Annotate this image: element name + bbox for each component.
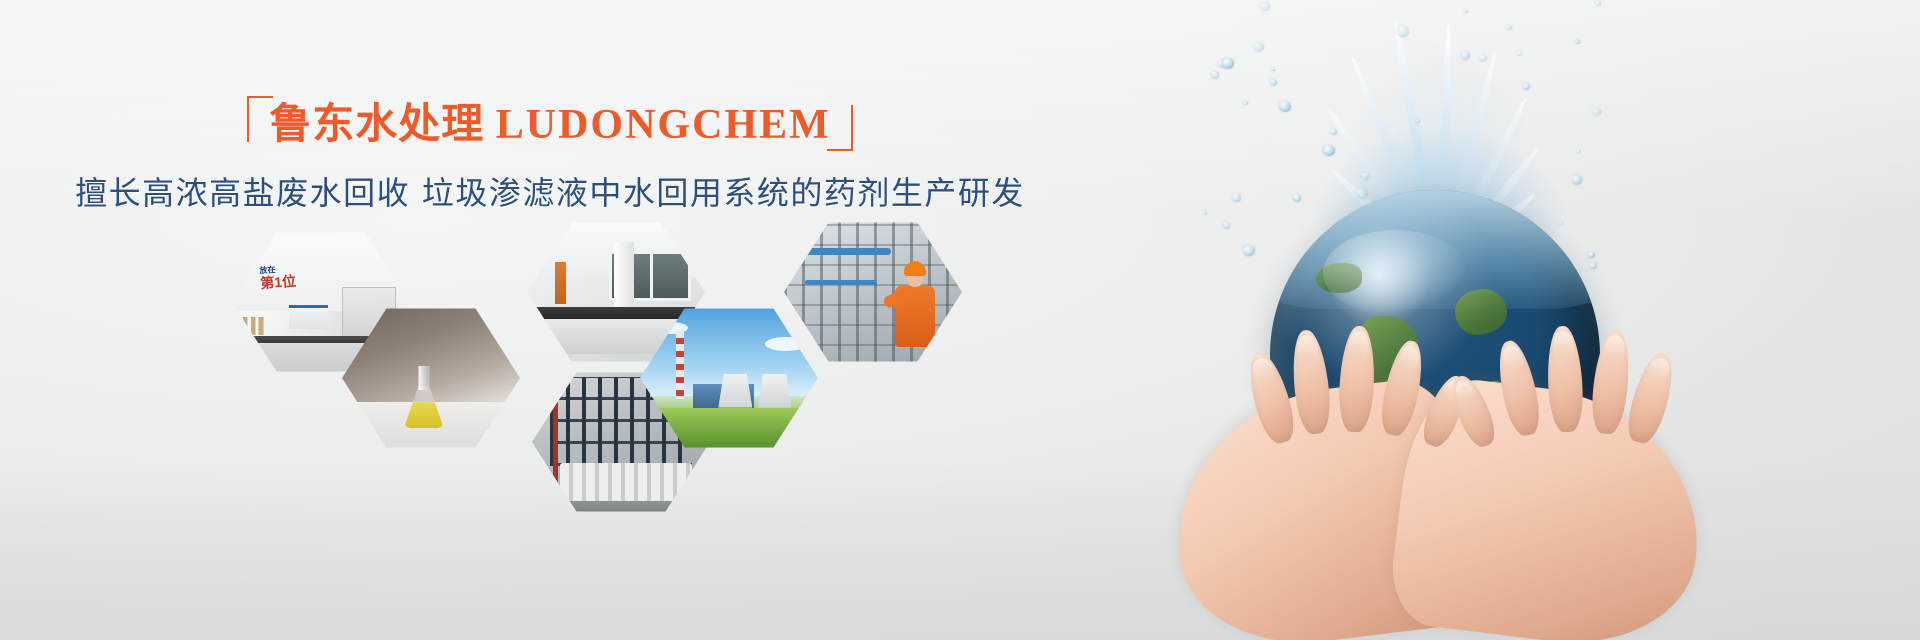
- fingernail: [1397, 344, 1421, 372]
- hex-image-worker: [784, 218, 962, 366]
- fingernail: [1603, 334, 1625, 363]
- water-droplet: [1330, 129, 1337, 135]
- wall-slogan-bottom: 第1位: [260, 273, 297, 291]
- hexagon-gallery: 放在 第1位: [232, 218, 962, 518]
- fingernail: [1553, 331, 1574, 360]
- water-droplet: [1232, 194, 1241, 202]
- cooling-tower: [718, 374, 752, 408]
- water-droplet: [1272, 68, 1276, 71]
- fingernail: [1453, 378, 1476, 402]
- water-droplet: [1253, 42, 1264, 52]
- water-droplet: [1270, 79, 1277, 85]
- skid-red-pipe: [553, 389, 558, 490]
- water-droplet: [1222, 58, 1234, 69]
- worker-blue-pipe: [798, 248, 891, 255]
- hero-banner: 鲁东水处理 LUDONGCHEM 擅长高浓高盐废水回收 垃圾渗滤液中水回用系统的…: [0, 0, 1920, 640]
- brand-title-frame: 鲁东水处理 LUDONGCHEM: [247, 96, 853, 151]
- wall-slogan: 放在 第1位: [260, 265, 297, 292]
- fingernail: [1500, 344, 1524, 372]
- erlenmeyer-flask-icon: [404, 366, 444, 428]
- water-droplet: [1211, 71, 1220, 79]
- skid-base: [532, 501, 710, 516]
- water-droplet: [1243, 101, 1248, 106]
- banner-subtitle: 擅长高浓高盐废水回收 垃圾渗滤液中水回用系统的药剂生产研发: [0, 168, 1100, 214]
- water-droplet: [1397, 26, 1408, 36]
- water-droplet: [1223, 222, 1230, 228]
- cooling-tower: [757, 374, 791, 408]
- plant-cloud: [765, 337, 807, 351]
- equipment-rack: [555, 262, 566, 303]
- flask-neck: [418, 366, 429, 390]
- water-droplet: [1517, 51, 1522, 56]
- lab-machine: [289, 305, 328, 329]
- hex-tile-worker[interactable]: [784, 218, 962, 366]
- water-droplet: [1279, 101, 1291, 112]
- fingernail: [1348, 331, 1369, 360]
- water-droplet: [1506, 25, 1511, 30]
- water-droplet: [1461, 51, 1471, 60]
- water-droplet: [1595, 1, 1601, 6]
- water-droplet: [1523, 83, 1531, 90]
- lab-bottles: [243, 317, 282, 335]
- worker-blue-pipe: [805, 280, 876, 285]
- water-droplet: [1479, 54, 1487, 62]
- brand-title-cn: 鲁东水处理: [269, 102, 484, 148]
- flask-body: [404, 386, 444, 428]
- brand-title-en: LUDONGCHEM: [496, 102, 831, 148]
- water-droplet: [1323, 145, 1335, 156]
- water-droplet: [1575, 40, 1580, 45]
- fingernail: [1296, 334, 1318, 363]
- headline-block: 鲁东水处理 LUDONGCHEM 擅长高浓高盐废水回收 垃圾渗滤液中水回用系统的…: [0, 96, 1100, 214]
- skid-membrane-vessels: [560, 463, 692, 501]
- water-droplet: [1592, 108, 1601, 116]
- equipment-bench: [531, 307, 702, 319]
- water-droplet: [1260, 2, 1270, 11]
- brand-title: 鲁东水处理 LUDONGCHEM: [269, 102, 831, 149]
- water-droplet: [1243, 245, 1255, 256]
- safety-helmet-icon: [904, 261, 926, 276]
- cupped-hands: [1158, 300, 1728, 640]
- water-globe-artwork: [1100, 0, 1920, 640]
- plant-chimney: [676, 331, 684, 399]
- fingernail: [1646, 356, 1672, 384]
- water-droplet: [1572, 175, 1582, 185]
- fingernail: [1250, 356, 1276, 384]
- water-droplet: [1203, 211, 1206, 214]
- worker-figure: [889, 261, 941, 357]
- finger: [1622, 349, 1680, 447]
